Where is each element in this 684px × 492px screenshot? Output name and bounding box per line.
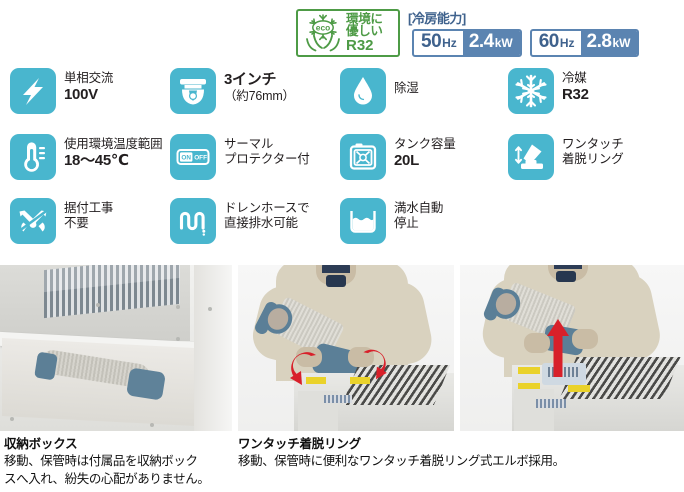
- caster-wheel-icon: [170, 68, 216, 114]
- feature-full-water-line1: 満水自動: [394, 201, 443, 216]
- feature-row-3: 据付工事 不要 ドレンホースで 直接排水可能: [0, 198, 684, 260]
- cooling-capacity-group: 50 Hz 2.4 kW 60 Hz 2.8 kW: [412, 29, 639, 57]
- one-touch-ring-icon: [508, 134, 554, 180]
- feature-caster-text: 3インチ （約76mm）: [224, 68, 295, 105]
- one-touch-ring-attach-photo: [238, 265, 454, 431]
- feature-power-supply-text: 単相交流 100V: [64, 68, 113, 105]
- frequency-50-value: 50: [421, 31, 441, 53]
- power-24kw: 2.4 kW: [463, 31, 520, 55]
- caption-storage-title: 収納ボックス: [4, 436, 236, 452]
- frequency-50hz: 50 Hz: [414, 31, 463, 55]
- no-installation-wrench-icon: [10, 198, 56, 244]
- feature-refrigerant: 冷媒 R32: [508, 68, 589, 114]
- eco-snowflake-hands-icon: eco: [301, 12, 345, 54]
- eco-badge-text: 環境に 優しい R32: [346, 13, 383, 54]
- feature-one-touch-line2: 着脱リング: [562, 152, 624, 167]
- feature-power-line1: 単相交流: [64, 71, 113, 86]
- water-drop-icon: [340, 68, 386, 114]
- feature-thermal-line1: サーマル: [224, 137, 310, 152]
- caption-storage-box: 収納ボックス 移動、保管時は付属品を収納ボック スへ入れ、紛失の心配がありません…: [4, 436, 236, 489]
- feature-one-touch-ring: ワンタッチ 着脱リング: [508, 134, 624, 180]
- capacity-box-50hz: 50 Hz 2.4 kW: [412, 29, 522, 57]
- feature-row-1: 単相交流 100V 3インチ （約76mm）: [0, 68, 684, 130]
- feature-refrigerant-line2: R32: [562, 86, 589, 104]
- feature-thermal-protector: ON OFF サーマル プロテクター付: [170, 134, 310, 180]
- power-24-unit: kW: [495, 36, 513, 50]
- tank-jerrycan-icon: [340, 134, 386, 180]
- feature-temperature-range: 使用環境温度範囲 18〜45℃: [10, 134, 162, 180]
- power-28-unit: kW: [612, 36, 630, 50]
- caption-ring-title: ワンタッチ着脱リング: [238, 436, 678, 452]
- one-touch-ring-detach-photo: [460, 265, 684, 431]
- feature-thermal-line2: プロテクター付: [224, 152, 310, 167]
- frequency-60hz: 60 Hz: [532, 31, 581, 55]
- power-24-value: 2.4: [469, 31, 494, 53]
- feature-row-2: 使用環境温度範囲 18〜45℃ ON OFF サーマル プロテクター付: [0, 134, 684, 196]
- feature-refrigerant-line1: 冷媒: [562, 71, 589, 86]
- svg-text:eco: eco: [316, 22, 330, 32]
- feature-drain-text: ドレンホースで 直接排水可能: [224, 198, 309, 232]
- svg-text:OFF: OFF: [194, 155, 207, 162]
- on-off-switch-icon: ON OFF: [170, 134, 216, 180]
- caption-storage-desc: 移動、保管時は付属品を収納ボック スへ入れ、紛失の心配がありません。: [4, 453, 236, 489]
- feature-icon-grid: 単相交流 100V 3インチ （約76mm）: [0, 68, 684, 260]
- feature-temperature-text: 使用環境温度範囲 18〜45℃: [64, 134, 162, 171]
- feature-dehumidify: 除湿: [340, 68, 419, 114]
- caption-area: 収納ボックス 移動、保管時は付属品を収納ボック スへ入れ、紛失の心配がありません…: [0, 436, 684, 492]
- feature-thermal-text: サーマル プロテクター付: [224, 134, 310, 168]
- snowflake-icon: [508, 68, 554, 114]
- feature-refrigerant-text: 冷媒 R32: [562, 68, 589, 105]
- caption-ring-desc: 移動、保管時に便利なワンタッチ着脱リング式エルボ採用。: [238, 453, 678, 471]
- feature-caster-size: 3インチ （約76mm）: [170, 68, 295, 114]
- frequency-60-value: 60: [539, 31, 559, 53]
- feature-tank-capacity: タンク容量 20L: [340, 134, 456, 180]
- lightning-bolt-icon: [10, 68, 56, 114]
- caption-storage-desc-line1: 移動、保管時は付属品を収納ボック: [4, 454, 198, 468]
- feature-caster-line1: 3インチ: [224, 71, 295, 89]
- feature-drain-hose: ドレンホースで 直接排水可能: [170, 198, 309, 244]
- feature-tank-line1: タンク容量: [394, 137, 456, 152]
- power-28kw: 2.8 kW: [581, 31, 638, 55]
- caption-one-touch-ring: ワンタッチ着脱リング 移動、保管時に便利なワンタッチ着脱リング式エルボ採用。: [238, 436, 678, 471]
- feature-no-installation: 据付工事 不要: [10, 198, 113, 244]
- storage-box-photo: [0, 265, 232, 431]
- feature-drain-line1: ドレンホースで: [224, 201, 309, 216]
- capacity-box-60hz: 60 Hz 2.8 kW: [530, 29, 640, 57]
- feature-full-water-text: 満水自動 停止: [394, 198, 443, 232]
- feature-temperature-line2: 18〜45℃: [64, 152, 162, 170]
- feature-no-install-line2: 不要: [64, 216, 113, 231]
- frequency-60-unit: Hz: [560, 36, 575, 50]
- caption-storage-desc-line2: スへ入れ、紛失の心配がありません。: [4, 472, 209, 486]
- feature-full-water-line2: 停止: [394, 216, 443, 231]
- feature-drain-line2: 直接排水可能: [224, 216, 309, 231]
- eco-r32-badge: eco 環境に 優しい R32: [296, 9, 400, 57]
- feature-tank-text: タンク容量 20L: [394, 134, 456, 171]
- feature-no-install-text: 据付工事 不要: [64, 198, 113, 232]
- feature-power-supply: 単相交流 100V: [10, 68, 113, 114]
- svg-text:ON: ON: [181, 155, 191, 162]
- drain-hose-icon: [170, 198, 216, 244]
- feature-temperature-line1: 使用環境温度範囲: [64, 137, 162, 152]
- feature-tank-line2: 20L: [394, 152, 456, 170]
- feature-no-install-line1: 据付工事: [64, 201, 113, 216]
- power-28-value: 2.8: [587, 31, 612, 53]
- thermometer-icon: [10, 134, 56, 180]
- feature-one-touch-text: ワンタッチ 着脱リング: [562, 134, 624, 168]
- feature-one-touch-line1: ワンタッチ: [562, 137, 624, 152]
- feature-dehumidify-label: 除湿: [394, 81, 419, 96]
- frequency-50-unit: Hz: [442, 36, 457, 50]
- eco-refrigerant-label: R32: [346, 38, 383, 53]
- cooling-capacity-label: [冷房能力]: [408, 8, 466, 27]
- header-bar: eco 環境に 優しい R32 [冷房能力] 50 Hz 2.4: [0, 0, 684, 62]
- photo-strip: [0, 265, 684, 431]
- full-water-stop-icon: [340, 198, 386, 244]
- feature-dehumidify-text: 除湿: [394, 68, 419, 96]
- feature-full-water-stop: 満水自動 停止: [340, 198, 443, 244]
- feature-power-line2: 100V: [64, 86, 113, 104]
- feature-caster-line2: （約76mm）: [224, 89, 295, 104]
